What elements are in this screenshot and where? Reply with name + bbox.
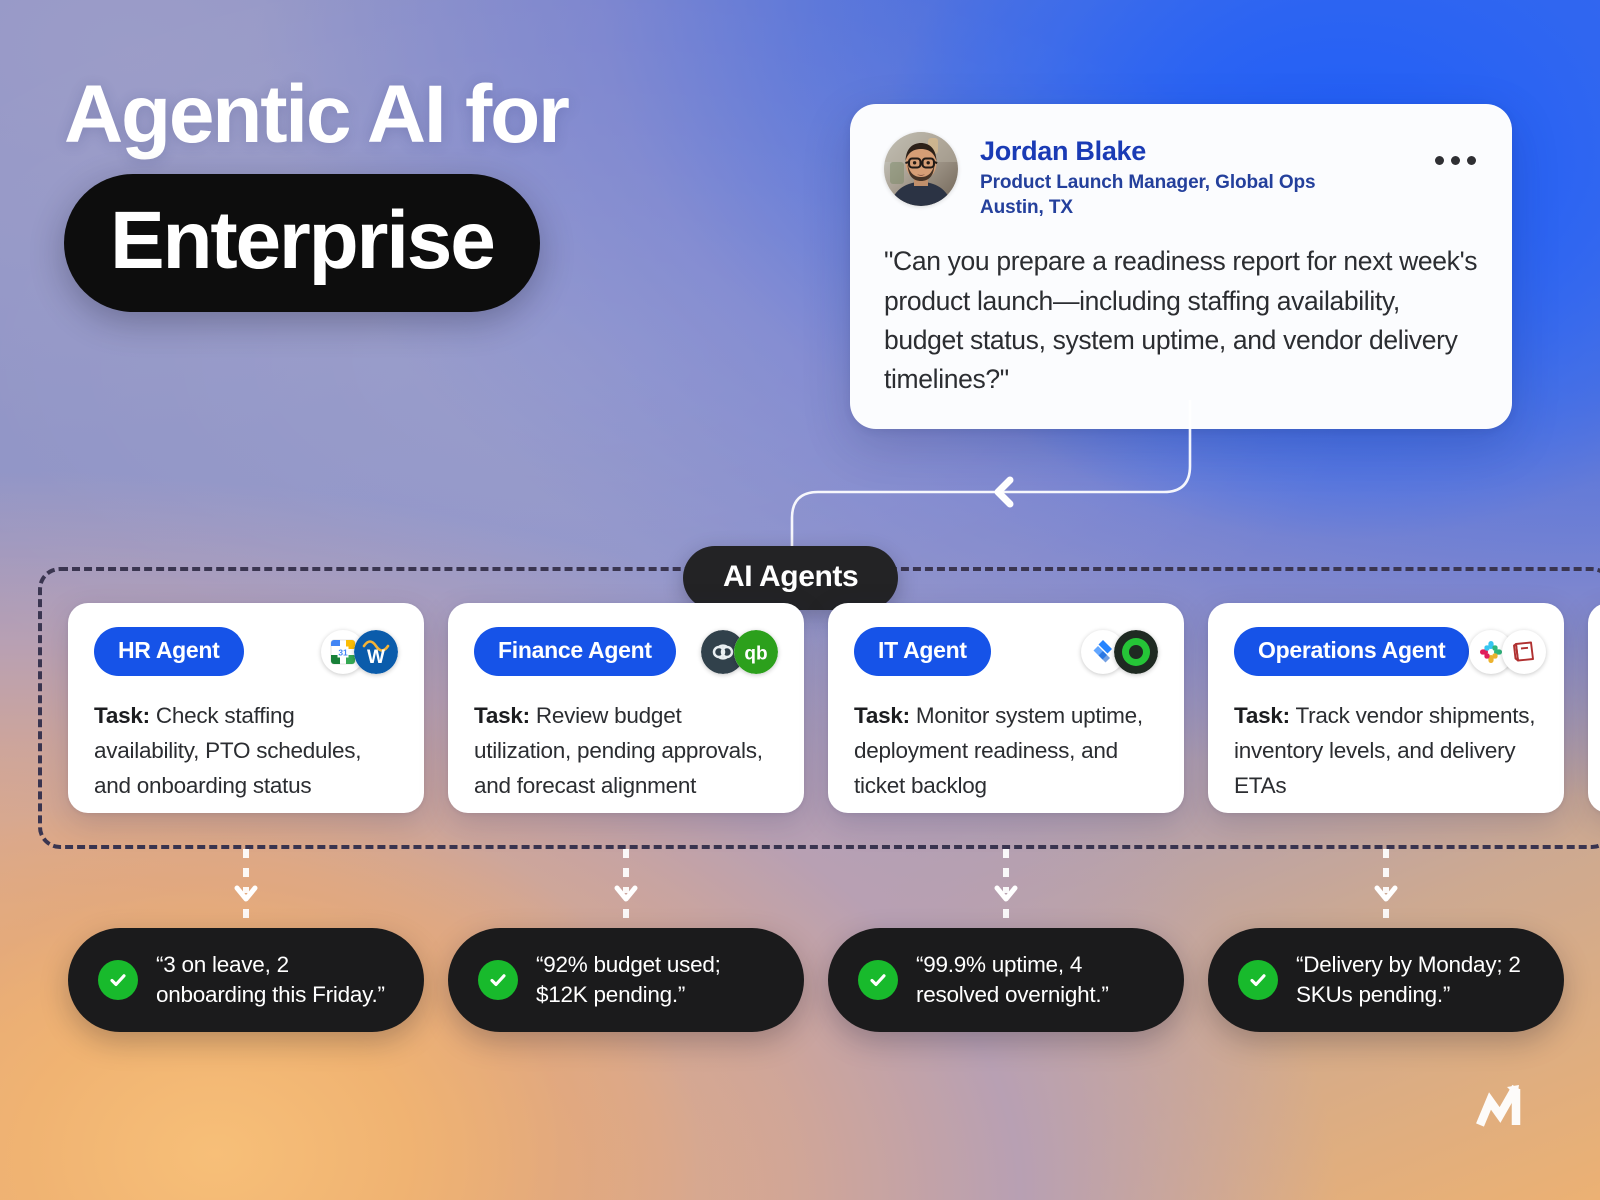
result-pill-it: “99.9% uptime, 4 resolved overnight.” [828,928,1184,1032]
agent-card-finance[interactable]: Finance Agent qb [448,603,804,813]
agent-card-header: Finance Agent qb [474,627,778,676]
agent-integration-icons: 31 W [321,630,398,674]
dashed-line [1003,909,1009,923]
headline: Agentic AI for Enterprise [64,74,568,312]
agent-card-it[interactable]: IT Agent [828,603,1184,813]
datadog-icon [1114,630,1158,674]
agent-integration-icons [1081,630,1158,674]
connector-drop-finance [623,849,629,919]
connector-drop-operations [1383,849,1389,919]
prompt-user-location: Austin, TX [980,195,1315,220]
agent-card-header: IT Agent [854,627,1158,676]
prompt-card-header: Jordan Blake Product Launch Manager, Glo… [884,132,1478,220]
agent-badge-it: IT Agent [854,627,991,676]
dashed-line [1383,909,1389,923]
prompt-quote-text: "Can you prepare a readiness report for … [884,242,1478,399]
workday-icon: W [354,630,398,674]
connector-drop-it [1003,849,1009,919]
agent-card-header: Operations Agent [1234,627,1538,676]
prompt-identity: Jordan Blake Product Launch Manager, Glo… [980,132,1315,220]
result-pill-finance: “92% budget used; $12K pending.” [448,928,804,1032]
agent-task-hr: Task: Check staffing availability, PTO s… [94,698,398,803]
agent-integration-icons [1469,630,1546,674]
result-pill-operations: “Delivery by Monday; 2 SKUs pending.” [1208,928,1564,1032]
agent-badge-operations: Operations Agent [1234,627,1469,676]
agent-results-row: “3 on leave, 2 onboarding this Friday.” … [68,928,1564,1032]
avatar [884,132,958,206]
agents-group-label: AI Agents [683,546,898,610]
check-circle-icon [858,960,898,1000]
result-text-operations: “Delivery by Monday; 2 SKUs pending.” [1296,950,1538,1009]
check-circle-icon [1238,960,1278,1000]
agent-card-hr[interactable]: HR Agent 31 [68,603,424,813]
check-circle-icon [478,960,518,1000]
chevron-down-icon [231,883,261,912]
agent-card-overflow[interactable] [1588,603,1600,813]
svg-text:W: W [367,647,385,668]
result-text-finance: “92% budget used; $12K pending.” [536,950,778,1009]
dashed-line [623,909,629,923]
task-label: Task: [94,703,150,728]
user-prompt-card: Jordan Blake Product Launch Manager, Glo… [850,104,1512,429]
svg-text:31: 31 [338,647,348,657]
svg-text:qb: qb [744,643,767,664]
connector-drop-hr [243,849,249,919]
agent-integration-icons: qb [701,630,778,674]
dashed-line [243,909,249,923]
agent-badge-finance: Finance Agent [474,627,676,676]
agent-cards-row: HR Agent 31 [68,603,1600,813]
prompt-user-name: Jordan Blake [980,136,1315,167]
headline-line-2-pill: Enterprise [64,174,540,312]
agent-task-finance: Task: Review budget utilization, pending… [474,698,778,803]
check-circle-icon [98,960,138,1000]
result-text-hr: “3 on leave, 2 onboarding this Friday.” [156,950,398,1009]
chevron-down-icon [1371,883,1401,912]
chevron-down-icon [611,883,641,912]
task-label: Task: [854,703,910,728]
more-options-icon[interactable] [1435,156,1476,165]
headline-line-1: Agentic AI for [64,74,568,156]
notebook-icon [1502,630,1546,674]
agent-card-operations[interactable]: Operations Agent [1208,603,1564,813]
agent-task-it: Task: Monitor system uptime, deployment … [854,698,1158,803]
result-text-it: “99.9% uptime, 4 resolved overnight.” [916,950,1158,1009]
brand-logo [1476,1077,1534,1138]
task-label: Task: [474,703,530,728]
chevron-down-icon [991,883,1021,912]
result-pill-hr: “3 on leave, 2 onboarding this Friday.” [68,928,424,1032]
quickbooks-icon: qb [734,630,778,674]
agent-task-operations: Task: Track vendor shipments, inventory … [1234,698,1538,803]
agent-card-header: HR Agent 31 [94,627,398,676]
more-dot [1435,156,1444,165]
more-dot [1467,156,1476,165]
task-label: Task: [1234,703,1290,728]
prompt-user-role: Product Launch Manager, Global Ops [980,170,1315,195]
agent-badge-hr: HR Agent [94,627,244,676]
more-dot [1451,156,1460,165]
